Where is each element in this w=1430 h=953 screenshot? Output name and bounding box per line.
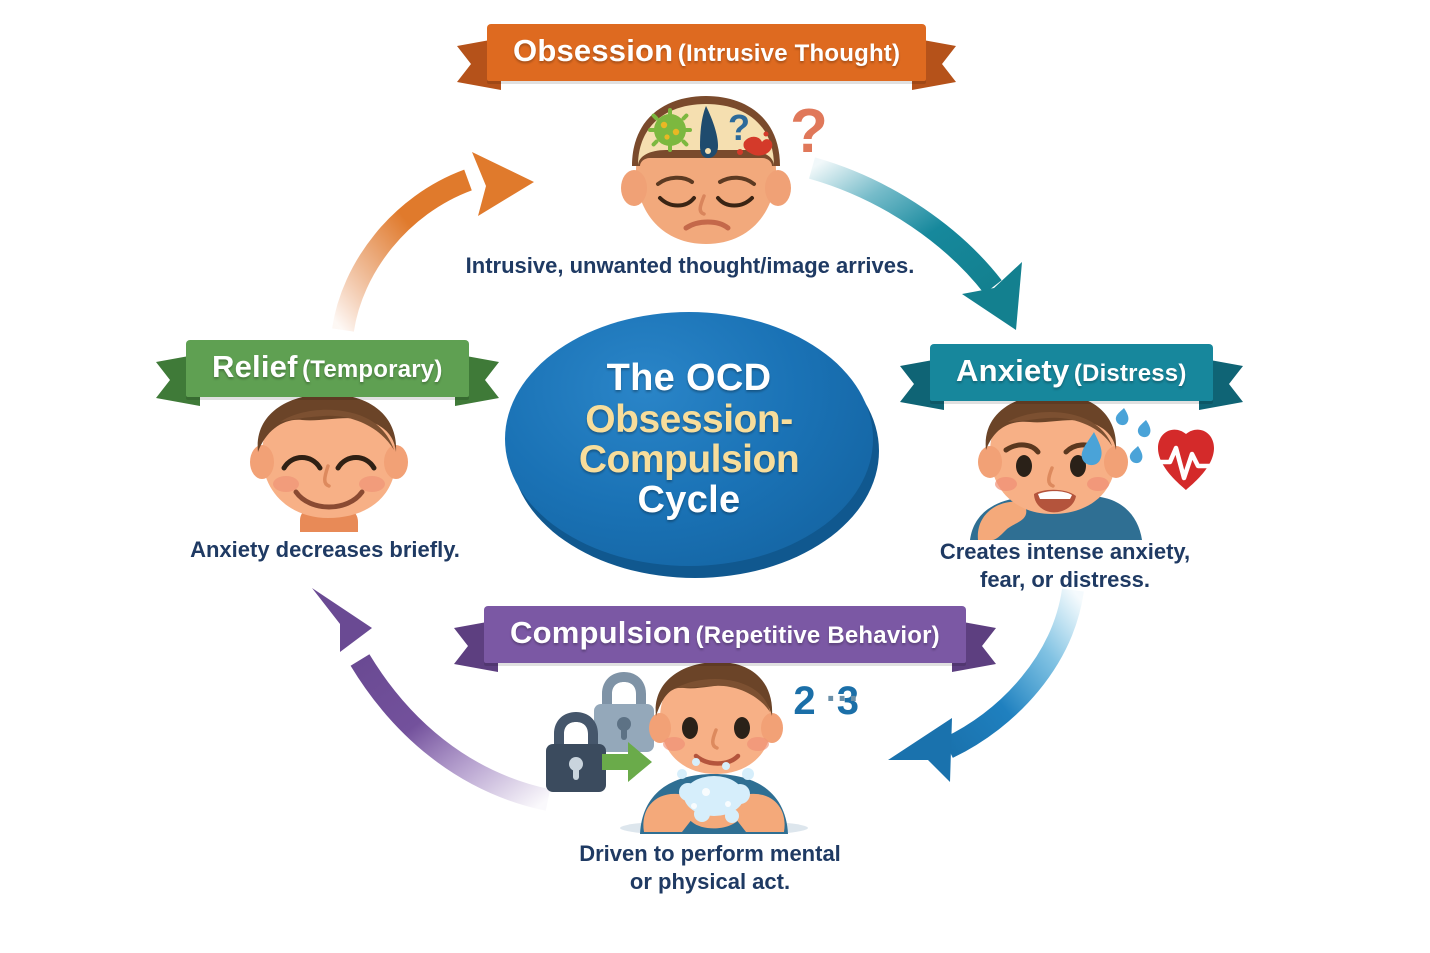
ribbon-band-obsession: Obsession (Intrusive Thought) [487, 24, 926, 81]
obsession-label-sub: (Intrusive Thought) [678, 40, 900, 67]
ribbon-band-anxiety: Anxiety (Distress) [930, 344, 1213, 401]
caption-relief: Anxiety decreases briefly. [180, 536, 470, 564]
relief-label-main: Relief [212, 349, 298, 384]
obsession-label-main: Obsession [513, 33, 673, 68]
infographic-canvas: The OCD Obsession- Compulsion Cycle Obse… [0, 0, 1430, 953]
caption-obsession: Intrusive, unwanted thought/image arrive… [465, 252, 915, 280]
relief-label-sub: (Temporary) [302, 356, 442, 383]
node-obsession[interactable]: Obsession (Intrusive Thought) [487, 24, 926, 81]
center-title-line2-bottom: Compulsion [579, 440, 799, 480]
node-anxiety[interactable]: Anxiety (Distress) [930, 344, 1213, 401]
heartbeat-heart-icon [1154, 430, 1214, 490]
center-title-line1: The OCD [607, 359, 772, 397]
center-title-line2-top: Obsession- [585, 400, 792, 440]
node-relief[interactable]: Relief (Temporary) [186, 340, 469, 397]
ellipsis-icon: ··· [826, 680, 860, 718]
node-compulsion[interactable]: Compulsion (Repetitive Behavior) [484, 606, 966, 663]
center-title-ellipse: The OCD Obsession- Compulsion Cycle [505, 312, 885, 580]
compulsion-label-main: Compulsion [510, 615, 691, 650]
illustration-obsession: ? [594, 92, 826, 252]
illustration-compulsion: 1 2 3 ··· [536, 662, 866, 834]
germ-icon [648, 108, 692, 152]
caption-compulsion: Driven to perform mental or physical act… [540, 840, 880, 895]
ribbon-band-relief: Relief (Temporary) [186, 340, 469, 397]
question-mark-icon: ? [790, 97, 826, 166]
ribbon-band-compulsion: Compulsion (Repetitive Behavior) [484, 606, 966, 663]
illustration-relief [238, 392, 420, 540]
arrow-obsession-to-anxiety [812, 168, 1022, 330]
ribbon-anxiety: Anxiety (Distress) [930, 344, 1213, 401]
caption-anxiety: Creates intense anxiety, fear, or distre… [905, 538, 1225, 593]
padlock-icon [594, 672, 654, 752]
ribbon-compulsion: Compulsion (Repetitive Behavior) [484, 606, 966, 663]
center-title-line3: Cycle [638, 481, 741, 519]
compulsion-label-sub: (Repetitive Behavior) [696, 622, 940, 649]
center-title-text: The OCD Obsession- Compulsion Cycle [505, 312, 873, 566]
ribbon-relief: Relief (Temporary) [186, 340, 469, 397]
anxiety-label-main: Anxiety [956, 353, 1069, 388]
arrow-relief-to-obsession [343, 152, 534, 330]
anxiety-label-sub: (Distress) [1074, 360, 1187, 387]
illustration-anxiety [948, 392, 1218, 540]
ribbon-obsession: Obsession (Intrusive Thought) [487, 24, 926, 81]
